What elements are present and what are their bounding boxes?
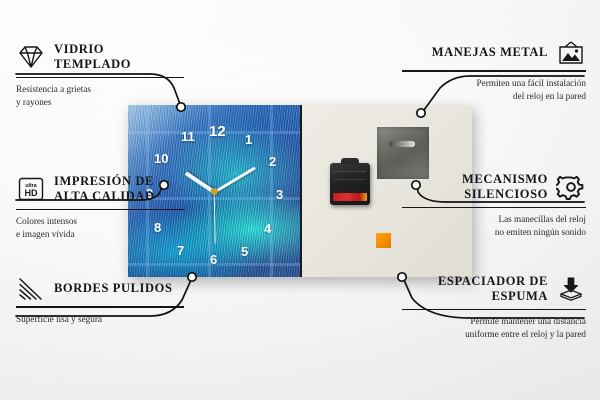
callout-mecanismo-silencioso: MECANISMO SILENCIOSO Las manecillas del … xyxy=(402,172,586,239)
clock-number-6: 6 xyxy=(210,253,217,266)
callout-title: MANEJAS METAL xyxy=(432,45,548,60)
callout-impresion-alta-calidad: ultra HD IMPRESIÓN DE ALTA CALIDAD Color… xyxy=(16,174,184,241)
clock-number-7: 7 xyxy=(177,244,184,257)
clock-number-11: 11 xyxy=(181,130,195,143)
callout-title: MECANISMO SILENCIOSO xyxy=(402,172,548,203)
clock-number-1: 1 xyxy=(245,133,252,146)
svg-text:HD: HD xyxy=(25,188,38,198)
callout-rule xyxy=(402,70,586,72)
callout-rule xyxy=(16,306,184,308)
callout-espaciador-espuma: ESPACIADOR DE ESPUMA Permite mantener un… xyxy=(402,274,586,341)
callout-rule xyxy=(402,309,586,311)
callout-desc: Superficie lisa y segura xyxy=(16,313,184,326)
mechanism-hook-tab xyxy=(341,158,359,164)
mechanism-seam-line xyxy=(334,171,366,172)
clock-number-10: 10 xyxy=(154,152,168,165)
diamond-icon xyxy=(16,44,46,70)
infographic-canvas: 12 1 2 3 4 5 6 7 8 9 10 11 xyxy=(0,0,600,400)
callout-desc: Permite mantener una distancia uniforme … xyxy=(402,315,586,341)
callout-title: VIDRIO TEMPLADO xyxy=(54,42,184,73)
callout-title: ESPACIADOR DE ESPUMA xyxy=(402,274,548,305)
callout-rule xyxy=(16,77,184,79)
ultra-hd-icon: ultra HD xyxy=(16,176,46,202)
callout-rule xyxy=(16,209,184,211)
clock-number-4: 4 xyxy=(264,222,271,235)
callout-manejas-metal: MANEJAS METAL Permiten una fácil instala… xyxy=(402,40,586,103)
quartz-mechanism-box xyxy=(330,163,370,205)
callout-title: BORDES PULIDOS xyxy=(54,281,173,296)
clock-center-cap xyxy=(211,188,218,195)
hanger-slot xyxy=(389,141,415,147)
gear-icon xyxy=(556,174,586,200)
callout-bordes-pulidos: BORDES PULIDOS Superficie lisa y segura xyxy=(16,276,184,326)
clock-number-5: 5 xyxy=(241,245,248,258)
clock-number-3: 3 xyxy=(276,188,283,201)
callout-desc: Las manecillas del reloj no emiten ningú… xyxy=(402,213,586,239)
callout-title: IMPRESIÓN DE ALTA CALIDAD xyxy=(54,174,184,205)
battery-strip xyxy=(333,193,367,201)
mechanism-seam-line-2 xyxy=(334,179,366,180)
callout-vidrio-templado: VIDRIO TEMPLADO Resistencia a grietas y … xyxy=(16,42,184,109)
callout-rule xyxy=(402,207,586,209)
callout-desc: Resistencia a grietas y rayones xyxy=(16,83,184,109)
arrow-down-onto-stack-icon xyxy=(556,276,586,302)
foam-spacer xyxy=(376,233,391,248)
callout-desc: Permiten una fácil instalación del reloj… xyxy=(402,77,586,103)
polished-edges-icon xyxy=(16,276,46,302)
callout-desc: Colores intensos e imagen vívida xyxy=(16,215,184,241)
picture-frame-hanging-icon xyxy=(556,40,586,66)
clock-number-2: 2 xyxy=(269,155,276,168)
clock-number-12: 12 xyxy=(209,124,226,139)
